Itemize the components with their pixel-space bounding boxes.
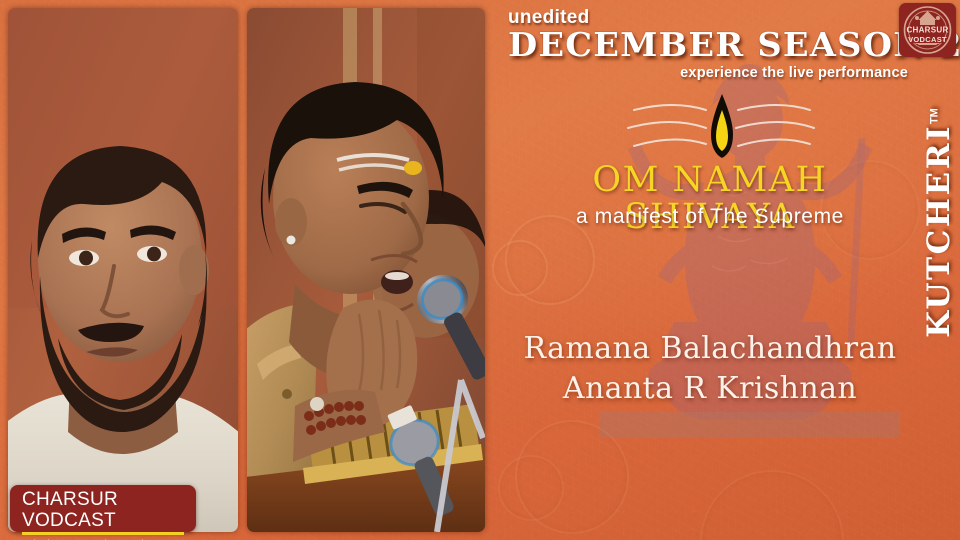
header-season-title: DECEMBER SEASON 2022TM (508, 28, 916, 63)
charsur-emblem-line1: CHARSUR (906, 26, 948, 35)
artist-name-1: Ramana Balachandhran (500, 328, 920, 369)
kutcheri-vertical-brand: KUTCHERITM (922, 88, 956, 358)
flame-motif (612, 90, 832, 170)
charsur-corner-badge[interactable]: CHARSUR VODCAST (899, 3, 956, 57)
artist-names: Ramana Balachandhran Ananta R Krishnan (500, 328, 920, 410)
artist-name-2: Ananta R Krishnan (500, 368, 920, 409)
kutcheri-trademark: TM (929, 108, 941, 124)
photo-left-musician (8, 8, 238, 532)
charsur-emblem-icon: CHARSUR VODCAST (899, 3, 956, 57)
kutcheri-label: KUTCHERI (921, 124, 957, 338)
header-tagline: experience the live performance (508, 65, 908, 81)
photo-right-vocalist (247, 8, 485, 532)
mantra-subtitle: a manifest of The Supreme (508, 205, 912, 229)
header-block: unedited DECEMBER SEASON 2022TM experien… (508, 8, 908, 81)
photo-left-image (8, 8, 238, 532)
kutcheri-text-wrap: KUTCHERITM (921, 108, 957, 338)
header-season-text: DECEMBER SEASON 2022 (508, 25, 960, 64)
charsur-vodcast-badge[interactable]: CHARSUR VODCAST pristine carnatic music (10, 485, 196, 532)
flame-and-stripes-icon (612, 90, 832, 170)
photo-right-image (247, 8, 485, 532)
charsur-emblem-line2: VODCAST (908, 35, 947, 44)
charsur-vodcast-rule (22, 532, 184, 535)
poster-root: unedited DECEMBER SEASON 2022TM experien… (0, 0, 960, 540)
charsur-vodcast-title: CHARSUR VODCAST (10, 490, 196, 531)
